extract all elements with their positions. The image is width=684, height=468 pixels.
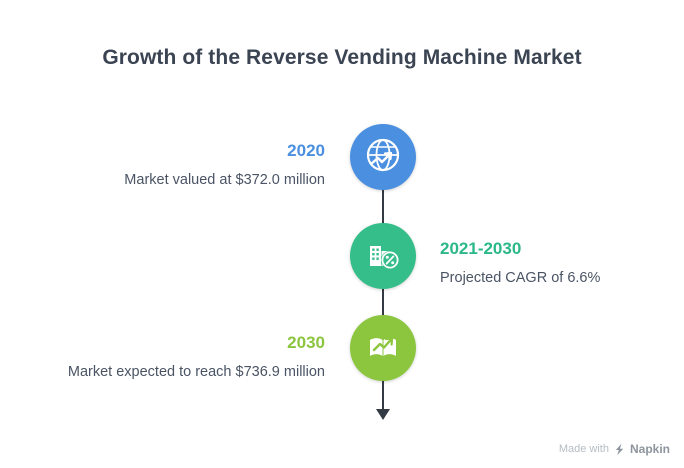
- timeline-description-2021-2030: Projected CAGR of 6.6%: [440, 268, 675, 288]
- timeline-year-2020: 2020: [20, 140, 325, 162]
- timeline-node-2021-2030[interactable]: [350, 223, 416, 289]
- watermark-prefix: Made with: [559, 443, 609, 455]
- timeline-description-2030: Market expected to reach $736.9 million: [10, 362, 325, 382]
- timeline-connector-line: [382, 176, 384, 418]
- timeline-label-2021-2030: 2021-2030 Projected CAGR of 6.6%: [440, 238, 675, 288]
- page-title: Growth of the Reverse Vending Machine Ma…: [0, 46, 684, 70]
- watermark-brand: Napkin: [630, 442, 670, 456]
- timeline-year-2021-2030: 2021-2030: [440, 238, 675, 260]
- timeline-label-2030: 2030 Market expected to reach $736.9 mil…: [10, 332, 325, 382]
- buildings-percent-icon: [363, 234, 403, 279]
- timeline-node-2030[interactable]: [350, 315, 416, 381]
- timeline-label-2020: 2020 Market valued at $372.0 million: [20, 140, 325, 190]
- book-growth-arrow-icon: [363, 326, 403, 371]
- timeline-arrow-icon: [376, 409, 390, 420]
- napkin-logo-icon: [613, 443, 626, 456]
- timeline-year-2030: 2030: [10, 332, 325, 354]
- timeline-node-2020[interactable]: [350, 124, 416, 190]
- timeline-description-2020: Market valued at $372.0 million: [20, 170, 325, 190]
- watermark: Made with Napkin: [559, 442, 670, 456]
- globe-chart-icon: [363, 135, 403, 180]
